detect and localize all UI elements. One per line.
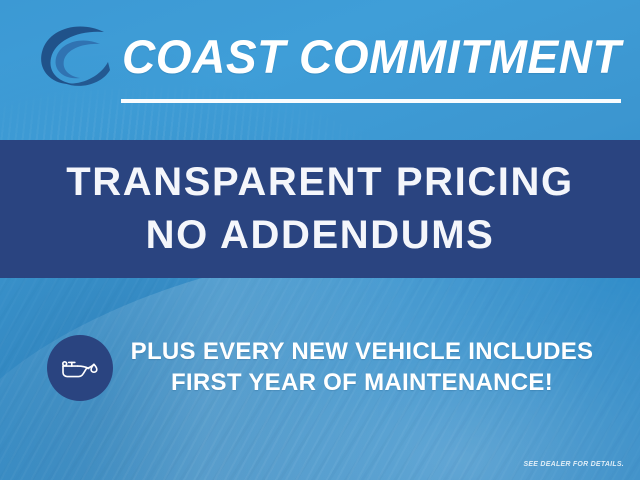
oil-can-icon [47,335,113,401]
maintenance-promo: PLUS EVERY NEW VEHICLE INCLUDES FIRST YE… [0,318,640,418]
title-divider [121,99,621,103]
promo-text-block: PLUS EVERY NEW VEHICLE INCLUDES FIRST YE… [131,337,594,398]
promo-line-1: PLUS EVERY NEW VEHICLE INCLUDES [131,337,594,368]
disclaimer-text: SEE DEALER FOR DETAILS. [523,461,624,468]
banner-header: COAST COMMITMENT [0,0,640,140]
page-title: COAST COMMITMENT [122,22,618,90]
promo-line-2: FIRST YEAR OF MAINTENANCE! [171,368,553,399]
coast-wave-swirl-logo-icon [34,22,116,96]
coast-commitment-banner: COAST COMMITMENT TRANSPARENT PRICING NO … [0,0,640,480]
pricing-message-band: TRANSPARENT PRICING NO ADDENDUMS [0,140,640,278]
band-headline-primary: TRANSPARENT PRICING [66,160,573,205]
band-headline-secondary: NO ADDENDUMS [146,213,495,258]
